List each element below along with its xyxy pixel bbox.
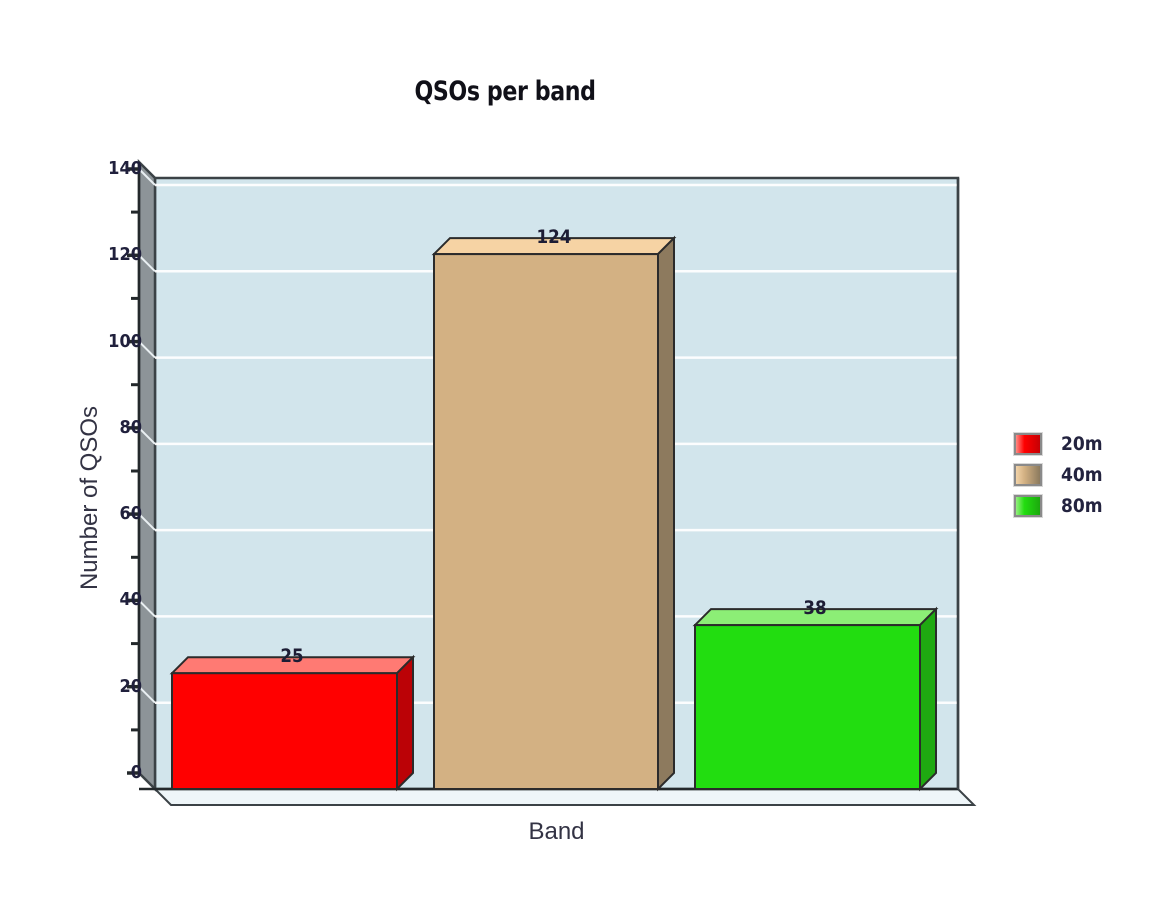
- legend-label-40m: 40m: [1061, 464, 1103, 486]
- bar-40m[interactable]: [434, 238, 674, 789]
- x-axis-title: Band: [155, 818, 958, 846]
- y-axis-title: Number of QSOs: [76, 348, 104, 648]
- bar-80m-side: [920, 609, 936, 789]
- legend-label-20m: 20m: [1061, 433, 1103, 455]
- legend: 20m 40m 80m: [1014, 428, 1164, 521]
- y-tick-120: 120: [101, 244, 142, 265]
- bar-value-80m: 38: [767, 597, 864, 619]
- legend-label-80m: 80m: [1061, 495, 1103, 517]
- y-tick-140: 140: [101, 158, 142, 179]
- bar-chart: QSOs per band: [0, 0, 1175, 899]
- y-tick-100: 100: [101, 331, 142, 352]
- plot-area: 0 20 40 60 80 100 120 140 25 124 38 Band…: [0, 0, 1010, 899]
- bar-40m-side: [658, 238, 674, 789]
- plot-floor: [155, 789, 974, 805]
- bar-value-20m: 25: [244, 645, 341, 667]
- bar-20m-front: [172, 673, 397, 789]
- bar-40m-front: [434, 254, 658, 789]
- y-tick-20: 20: [101, 676, 142, 697]
- bar-value-40m: 124: [506, 226, 603, 248]
- bar-80m-front: [695, 625, 920, 789]
- y-tick-0: 0: [101, 762, 142, 783]
- legend-item-20m[interactable]: 20m: [1014, 428, 1164, 459]
- y-tick-80: 80: [101, 417, 142, 438]
- bar-20m-side: [397, 657, 413, 789]
- legend-item-40m[interactable]: 40m: [1014, 459, 1164, 490]
- legend-item-80m[interactable]: 80m: [1014, 490, 1164, 521]
- legend-swatch-40m: [1014, 464, 1042, 486]
- y-tick-60: 60: [101, 503, 142, 524]
- legend-swatch-80m: [1014, 495, 1042, 517]
- y-tick-40: 40: [101, 589, 142, 610]
- legend-swatch-20m: [1014, 433, 1042, 455]
- bar-20m[interactable]: [172, 657, 413, 789]
- bar-80m[interactable]: [695, 609, 936, 789]
- plot-canvas: [0, 0, 1010, 899]
